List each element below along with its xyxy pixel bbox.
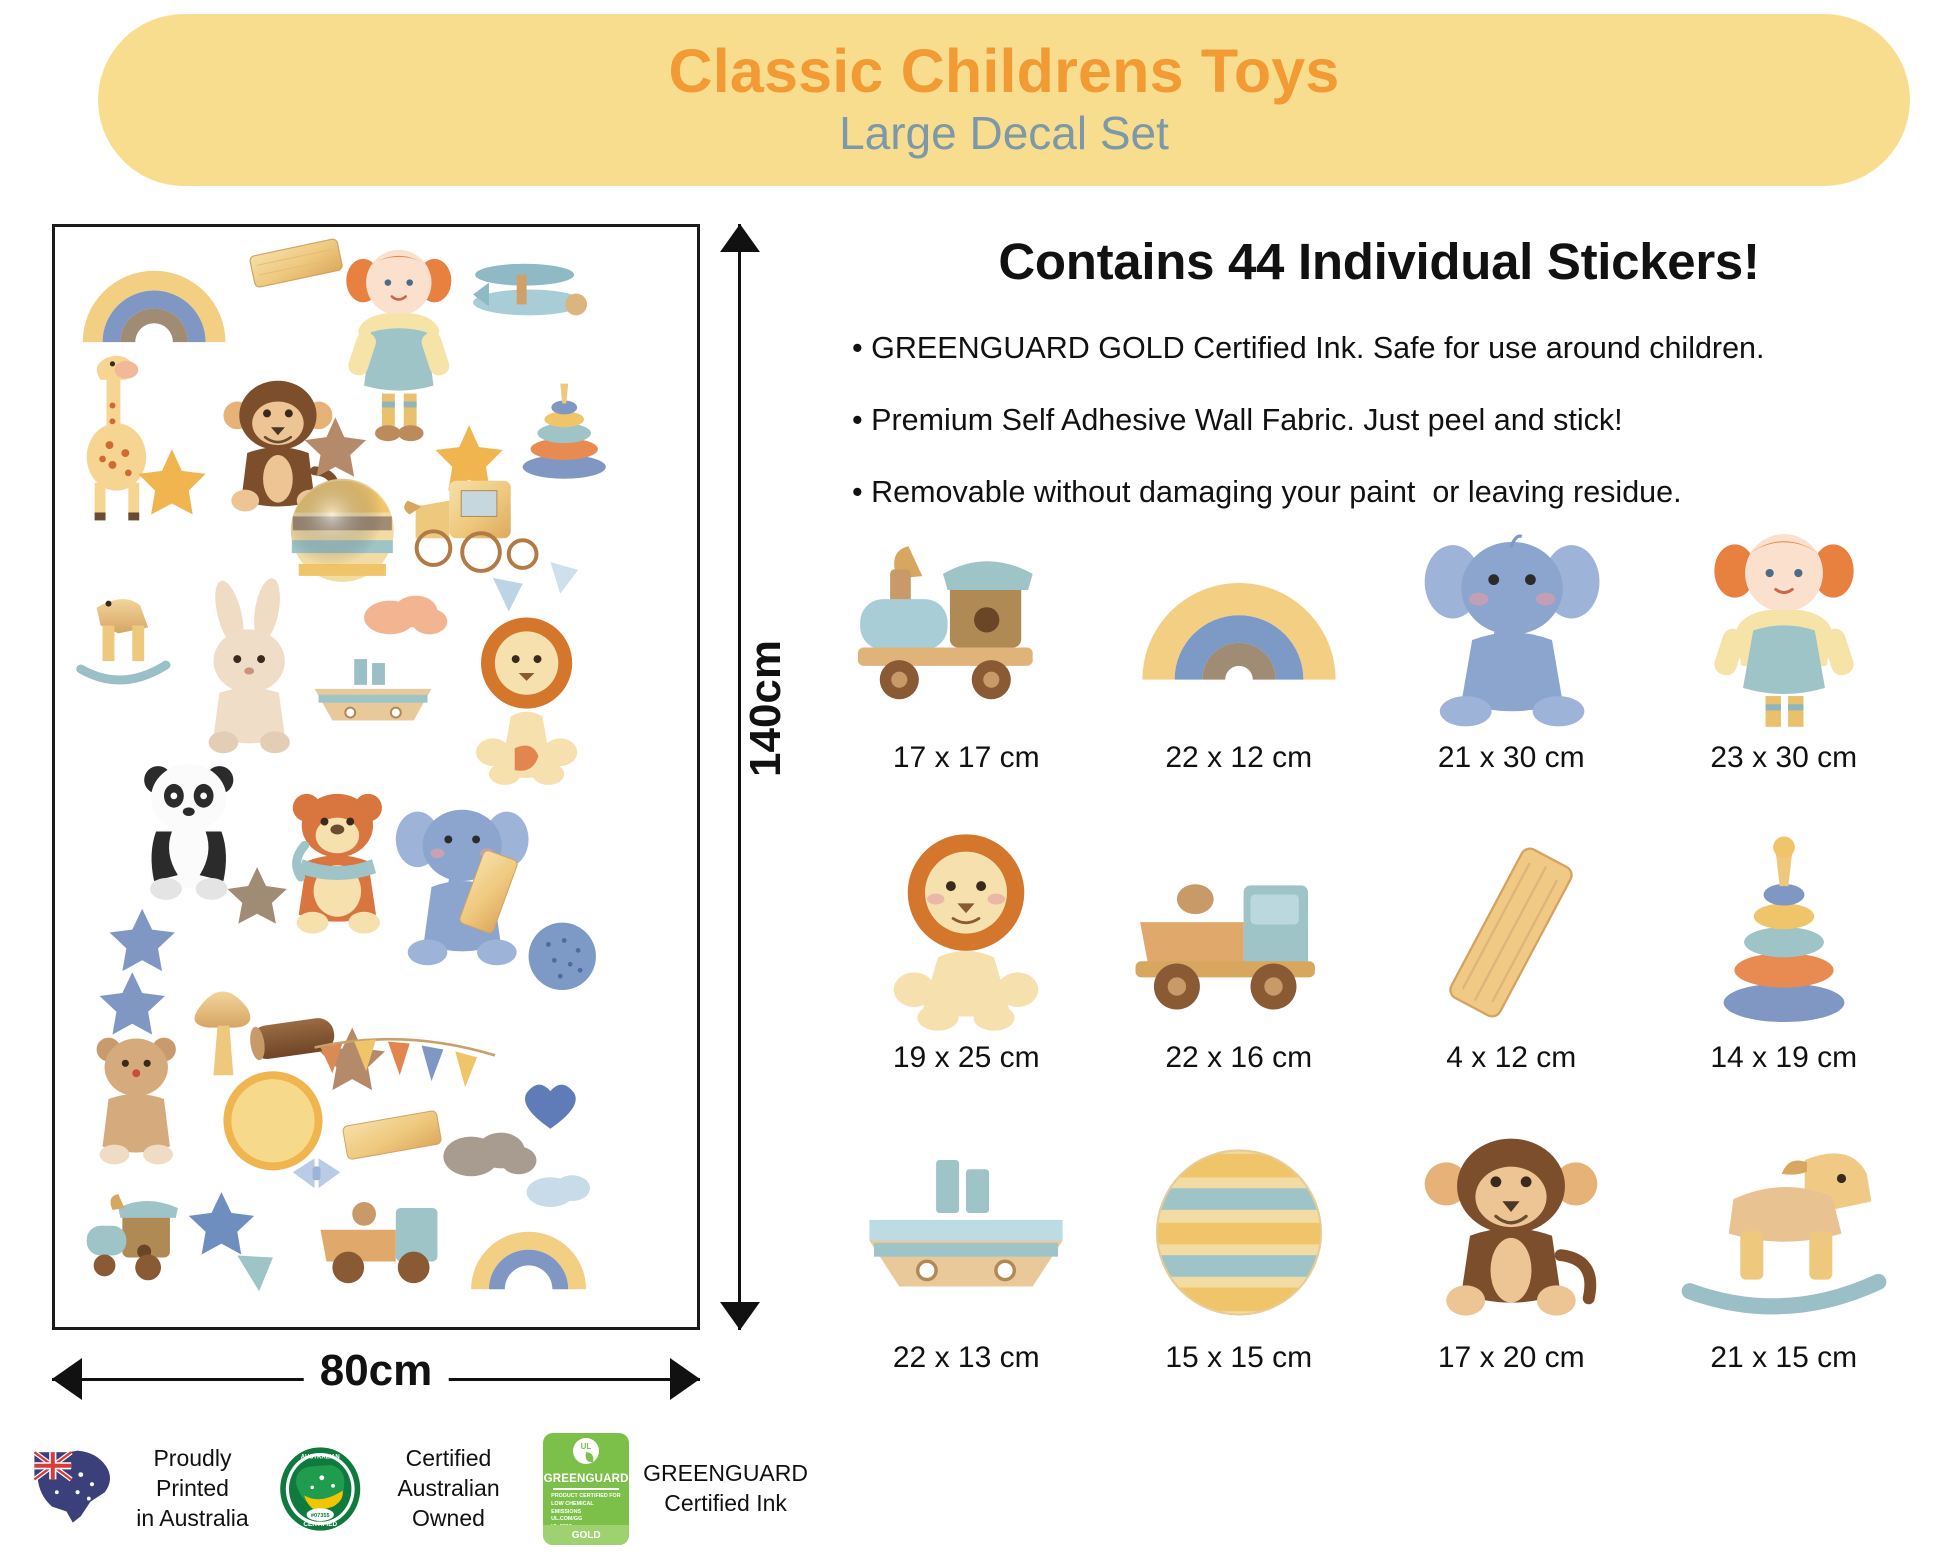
stacking-rings-icon — [1669, 830, 1899, 1035]
page-subtitle: Large Decal Set — [839, 107, 1169, 160]
sticker-triangle-blue-2 — [550, 562, 578, 594]
monkey-icon — [1396, 1130, 1626, 1335]
product-cell-doll: 23 x 30 cm — [1648, 530, 1921, 830]
feature-bullet: • GREENGUARD GOLD Certified Ink. Safe fo… — [852, 329, 1918, 367]
arrow-down-icon — [720, 1302, 760, 1330]
doll-icon — [1669, 530, 1899, 735]
badge-label: GREENGUARD Certified Ink — [643, 1459, 808, 1519]
sticker-giraffe — [87, 356, 146, 520]
svg-text:UL: UL — [581, 1442, 592, 1451]
sticker-sun — [223, 1071, 322, 1170]
product-size-label: 22 x 13 cm — [893, 1341, 1040, 1375]
product-cell-train: 17 x 17 cm — [830, 530, 1103, 830]
greenguard-card-icon: UL GREENGUARD PRODUCT CERTIFIED FOR LOW … — [543, 1433, 629, 1545]
product-size-label: 17 x 20 cm — [1438, 1341, 1585, 1375]
rainbow-icon — [1124, 530, 1354, 735]
feature-bullet-list: • GREENGUARD GOLD Certified Ink. Safe fo… — [840, 329, 1918, 511]
sticker-heart-blue — [525, 1085, 576, 1129]
product-size-label: 21 x 15 cm — [1710, 1341, 1857, 1375]
wooden-plank-icon — [1396, 830, 1626, 1035]
svg-text:#07355: #07355 — [311, 1513, 330, 1519]
sticker-bear-small — [97, 1038, 176, 1165]
sticker-count-headline: Contains 44 Individual Stickers! — [840, 232, 1918, 291]
sticker-plank-3 — [342, 1110, 442, 1160]
sticker-triangle-blue-1 — [493, 578, 523, 612]
sticker-wooden-tree — [195, 991, 251, 1075]
product-cell-lion: 19 x 25 cm — [830, 830, 1103, 1130]
sticker-panda — [144, 764, 233, 900]
feature-bullet: • Removable without damaging your paint … — [852, 473, 1918, 511]
sheet-height-label: 140cm — [741, 640, 791, 777]
sticker-rocking-horse-sheet — [81, 599, 166, 680]
sheet-width-dimension: 80cm — [52, 1352, 700, 1408]
arrow-right-icon — [670, 1358, 700, 1400]
badge-greenguard: UL GREENGUARD PRODUCT CERTIFIED FOR LOW … — [543, 1433, 808, 1545]
sticker-bear-orange — [293, 794, 382, 934]
sticker-plank-top — [249, 238, 343, 288]
product-size-grid: 17 x 17 cm 22 x 12 cm — [830, 530, 1920, 1430]
product-cell-elephant: 21 x 30 cm — [1375, 530, 1648, 830]
train-icon — [851, 530, 1081, 735]
svg-text:AUSTRALIAN: AUSTRALIAN — [301, 1455, 340, 1461]
sticker-sheet — [52, 224, 700, 1330]
sticker-ball-striped — [291, 479, 394, 582]
elephant-icon — [1396, 530, 1626, 735]
sticker-star-blue-2 — [100, 972, 165, 1034]
product-cell-stacking-rings: 14 x 19 cm — [1648, 830, 1921, 1130]
striped-ball-icon — [1124, 1130, 1354, 1335]
sticker-rabbit — [209, 576, 290, 753]
product-size-label: 22 x 16 cm — [1165, 1041, 1312, 1075]
feature-bullet: • Premium Self Adhesive Wall Fabric. Jus… — [852, 401, 1918, 439]
page-title: Classic Childrens Toys — [668, 40, 1339, 102]
sticker-ball-dotted — [529, 923, 596, 990]
sticker-rainbow — [83, 271, 226, 342]
product-cell-striped-ball: 15 x 15 cm — [1103, 1130, 1376, 1430]
svg-text:CERTIFIED: CERTIFIED — [304, 1521, 338, 1528]
info-panel: Contains 44 Individual Stickers! • GREEN… — [840, 232, 1918, 545]
sticker-doll — [346, 250, 452, 441]
sticker-star-brown-2 — [227, 867, 286, 923]
header-banner: Classic Childrens Toys Large Decal Set — [98, 14, 1910, 186]
badge-proudly-printed: Proudly Printed in Australia — [28, 1435, 255, 1543]
product-size-label: 21 x 30 cm — [1438, 741, 1585, 775]
product-cell-rocking-horse: 21 x 15 cm — [1648, 1130, 1921, 1430]
product-cell-boat: 22 x 13 cm — [830, 1130, 1103, 1430]
sticker-train-sheet — [404, 481, 536, 571]
sticker-train-bottom — [87, 1194, 178, 1280]
sticker-triangle-teal — [237, 1256, 273, 1292]
product-size-label: 19 x 25 cm — [893, 1041, 1040, 1075]
sticker-cloud-peach — [364, 596, 447, 635]
sticker-sheet-preview — [52, 224, 700, 1330]
sheet-width-label: 80cm — [304, 1346, 449, 1396]
product-cell-wooden-plank: 4 x 12 cm — [1375, 830, 1648, 1130]
badge-label: Certified Australian Owned — [376, 1444, 521, 1534]
sticker-rainbow-bottom — [471, 1232, 586, 1289]
australian-owned-seal-icon: AUSTRALIAN CERTIFIED #07355 — [277, 1435, 363, 1543]
sticker-plane — [473, 264, 587, 316]
product-size-label: 22 x 12 cm — [1165, 741, 1312, 775]
australia-map-icon — [28, 1435, 118, 1543]
product-size-label: 4 x 12 cm — [1446, 1041, 1576, 1075]
product-cell-rainbow: 22 x 12 cm — [1103, 530, 1376, 830]
sticker-star-blue-3 — [189, 1192, 254, 1254]
sticker-bowtie — [293, 1158, 341, 1188]
sticker-stacking-rings — [523, 384, 606, 479]
sticker-truck-bottom — [321, 1202, 438, 1283]
product-size-label: 14 x 19 cm — [1710, 1041, 1857, 1075]
rocking-horse-icon — [1669, 1130, 1899, 1335]
sticker-star-gold-1 — [138, 449, 205, 514]
sticker-star-blue-1 — [109, 909, 174, 971]
badge-australian-owned: AUSTRALIAN CERTIFIED #07355 Certified Au… — [277, 1435, 521, 1543]
greenguard-brand: GREENGUARD — [544, 1473, 629, 1485]
truck-icon — [1124, 830, 1354, 1035]
lion-icon — [851, 830, 1081, 1035]
ul-leaf-icon: UL — [569, 1433, 603, 1473]
product-size-label: 15 x 15 cm — [1165, 1341, 1312, 1375]
sheet-height-dimension: 140cm — [712, 224, 832, 1330]
product-cell-truck: 22 x 16 cm — [1103, 830, 1376, 1130]
certification-badges: Proudly Printed in Australia AUSTRALIAN … — [28, 1424, 808, 1554]
product-size-label: 17 x 17 cm — [893, 741, 1040, 775]
sticker-cloud-blue — [527, 1175, 590, 1207]
sticker-cloud-gray — [443, 1133, 536, 1177]
boat-icon — [851, 1130, 1081, 1335]
product-cell-monkey: 17 x 20 cm — [1375, 1130, 1648, 1430]
badge-label: Proudly Printed in Australia — [130, 1444, 256, 1534]
product-size-label: 23 x 30 cm — [1710, 741, 1857, 775]
sticker-boat-sheet — [315, 659, 432, 720]
greenguard-tier: GOLD — [543, 1525, 629, 1545]
